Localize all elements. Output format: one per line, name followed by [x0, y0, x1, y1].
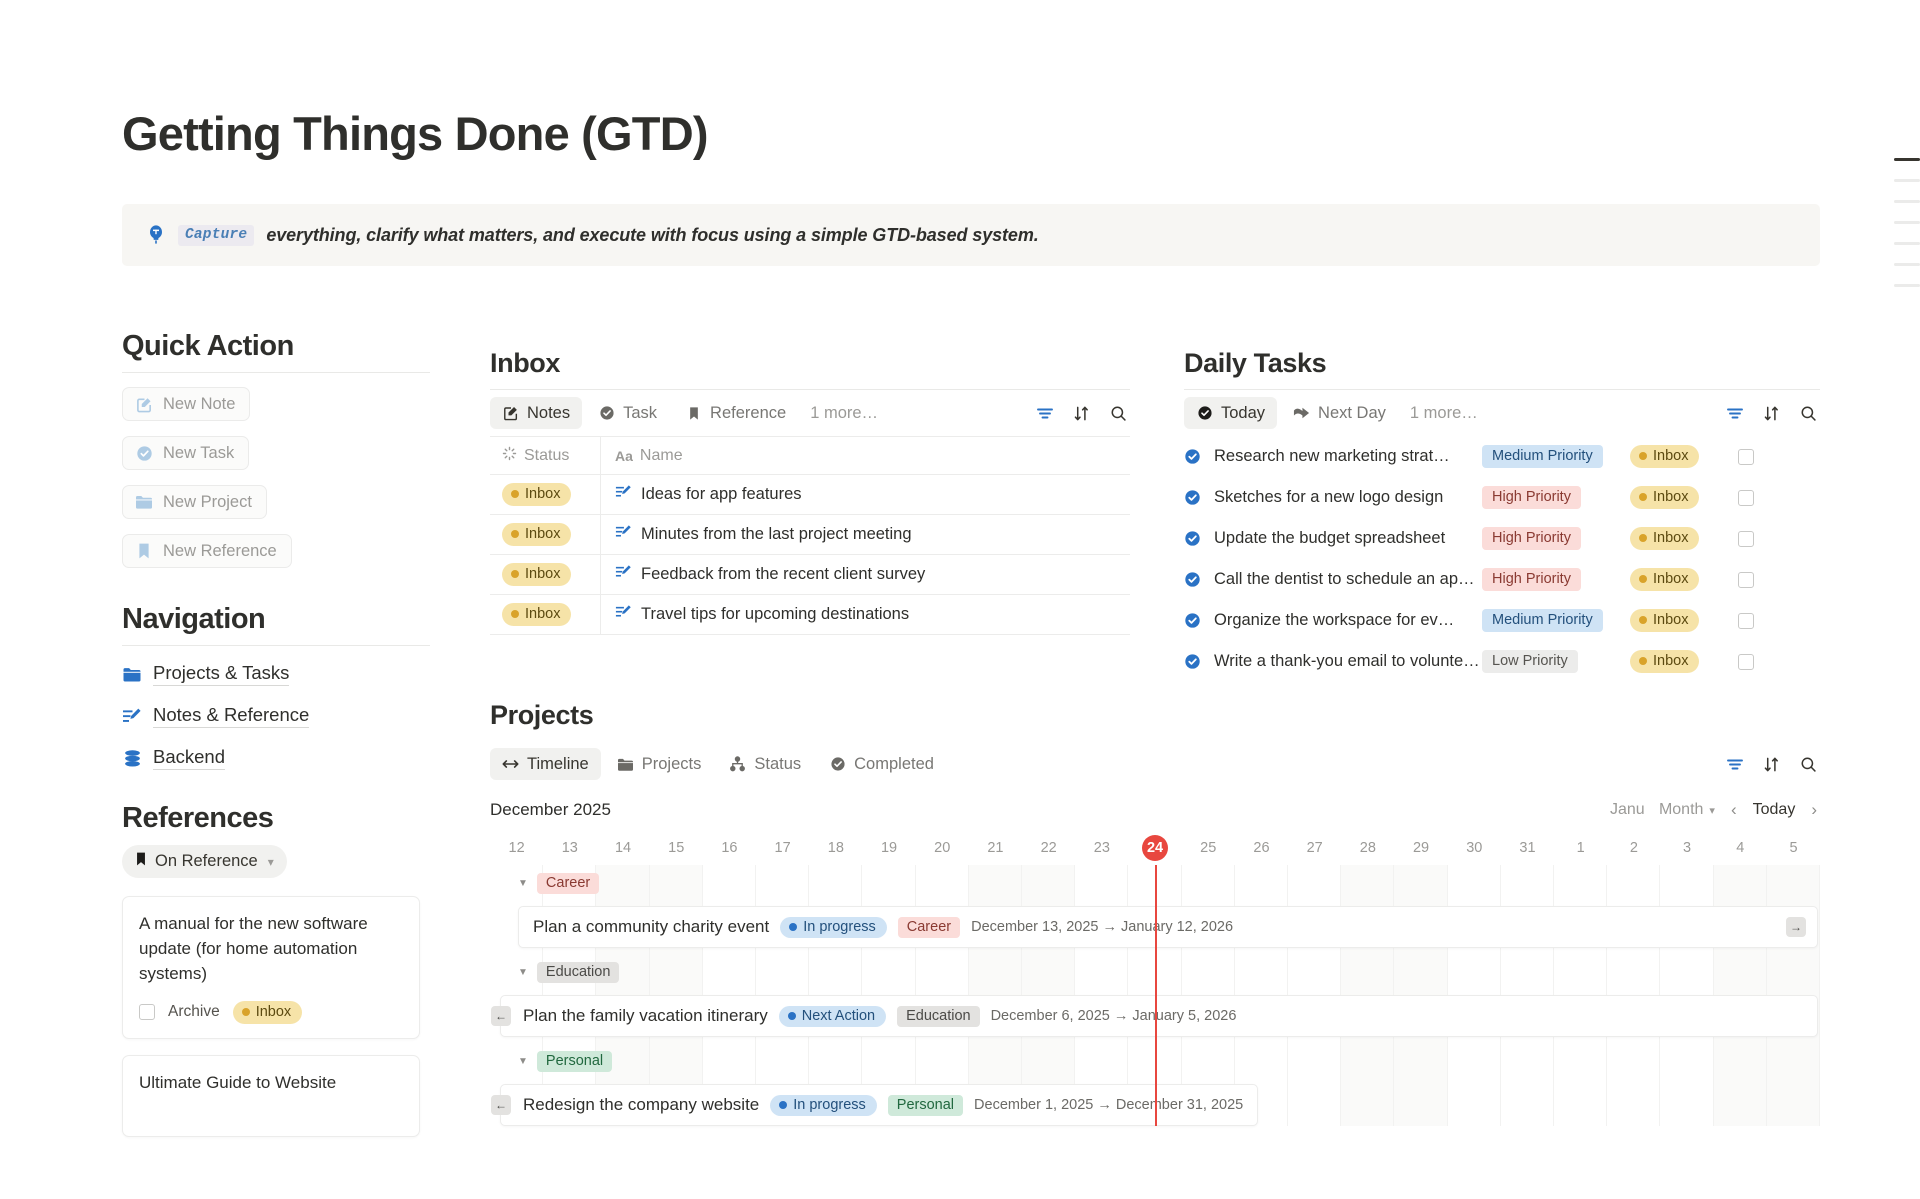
status-badge-label: Inbox [525, 565, 560, 583]
tab-label: Reference [710, 404, 786, 423]
tab-label: 1 more… [1410, 404, 1478, 423]
bookmark-icon [685, 405, 702, 422]
status-badge-label: Inbox [1653, 570, 1688, 588]
note-edit-icon [135, 395, 153, 413]
filter-icon[interactable] [1725, 404, 1744, 423]
task-checkbox[interactable] [1738, 490, 1754, 506]
tab-label: Timeline [527, 755, 589, 774]
status-badge-label: Inbox [525, 605, 560, 623]
status-dot-icon [1639, 534, 1647, 542]
task-done-icon[interactable] [1184, 571, 1214, 588]
status-dot-icon [1639, 452, 1647, 460]
task-name: Sketches for a new logo design [1214, 488, 1482, 507]
timeline-item-status: In progress [770, 1095, 877, 1116]
timeline-date-tick[interactable]: 19 [862, 840, 915, 856]
left-sidebar: Quick Action New Note New Task [122, 330, 430, 1137]
timeline-date-tick[interactable]: 22 [1022, 840, 1075, 856]
overflow-left-icon[interactable]: ← [491, 1095, 511, 1115]
task-done-icon[interactable] [1184, 448, 1214, 465]
timeline-item-status: Next Action [779, 1006, 886, 1027]
task-name: Organize the workspace for ev… [1214, 611, 1482, 630]
lightbulb-icon [146, 224, 166, 246]
task-priority: High Priority [1482, 527, 1630, 550]
overflow-left-icon[interactable]: ← [491, 1006, 511, 1026]
tab-reference[interactable]: Reference [673, 397, 798, 429]
status-dot-icon [779, 1101, 787, 1109]
tab-label: Next Day [1318, 404, 1386, 423]
status-dot-icon [242, 1008, 250, 1016]
task-row[interactable]: Sketches for a new logo design High Prio… [1184, 477, 1820, 518]
quick-action-list: New Note New Task New Project New Refere… [122, 387, 430, 583]
chevron-right-icon[interactable]: › [1808, 800, 1820, 820]
timeline-item-tag: Personal [888, 1095, 963, 1116]
filter-icon[interactable] [1035, 404, 1054, 423]
arrows-horizontal-icon [502, 756, 519, 773]
task-row[interactable]: Call the dentist to schedule an ap… High… [1184, 559, 1820, 600]
tab-today[interactable]: Today [1184, 397, 1277, 429]
task-checkbox[interactable] [1738, 572, 1754, 588]
timeline-date-tick[interactable]: 18 [809, 840, 862, 856]
column-header-status[interactable]: Status [490, 446, 600, 466]
tab-task[interactable]: Task [586, 397, 669, 429]
chevron-down-icon[interactable]: ▼ [518, 1056, 528, 1067]
task-priority: High Priority [1482, 486, 1630, 509]
task-row[interactable]: Organize the workspace for ev… Medium Pr… [1184, 600, 1820, 641]
daily-tasks-section: Daily Tasks Today Next Day 1 more… [1184, 348, 1820, 682]
task-name: Call the dentist to schedule an ap… [1214, 570, 1482, 589]
task-checkbox-cell [1738, 490, 1754, 506]
timeline-date-tick[interactable]: 1 [1554, 840, 1607, 856]
row-name-cell: Feedback from the recent client survey [600, 555, 1130, 595]
sort-icon[interactable] [1762, 404, 1781, 423]
status-dot-icon [1639, 575, 1647, 583]
inbox-table: Status Aa Name Inbox [490, 436, 1130, 635]
reference-filter-label: On Reference [155, 852, 258, 871]
status-badge: Inbox [1630, 445, 1699, 468]
folder-icon [135, 493, 153, 511]
reference-card-title: Ultimate Guide to Website [139, 1071, 403, 1096]
search-icon[interactable] [1799, 755, 1818, 774]
timeline-unit-dropdown[interactable]: Month ▾ [1659, 801, 1715, 819]
row-name-label: Feedback from the recent client survey [641, 565, 925, 584]
status-dot-icon [789, 923, 797, 931]
reference-card-title: A manual for the new software update (fo… [139, 912, 403, 987]
column-header-name[interactable]: Aa Name [600, 437, 1130, 475]
task-name: Write a thank-you email to volunte… [1214, 652, 1482, 671]
timeline-date-tick[interactable]: 23 [1075, 840, 1128, 856]
tab-label: Status [754, 755, 801, 774]
status-dot-icon [511, 530, 519, 538]
sidebar-item-backend[interactable]: Backend [122, 746, 430, 770]
timeline-item-tag: Career [898, 917, 960, 938]
timeline-date-tick[interactable]: 12 [490, 840, 543, 856]
task-priority: Medium Priority [1482, 609, 1630, 632]
timeline-today-button[interactable]: Today [1753, 801, 1796, 819]
timeline-date-tick[interactable]: 26 [1235, 840, 1288, 856]
priority-badge: High Priority [1482, 486, 1581, 509]
outline-mark[interactable] [1894, 221, 1920, 224]
daily-tasks-tabbar: Today Next Day 1 more… [1184, 390, 1820, 436]
status-dot-icon [511, 570, 519, 578]
tab-label: Task [623, 404, 657, 423]
timeline-date-tick[interactable]: 28 [1341, 840, 1394, 856]
bookmark-icon [135, 542, 153, 560]
folder-icon [617, 756, 634, 773]
timeline-item-title: Redesign the company website [523, 1095, 759, 1115]
group-tag: Education [537, 962, 620, 983]
timeline-item-bar[interactable]: ← Redesign the company website In progre… [500, 1084, 1258, 1126]
daily-tasks-list: Research new marketing strat… Medium Pri… [1184, 436, 1820, 682]
outline-mark[interactable] [1894, 200, 1920, 203]
status-dot-icon [511, 610, 519, 618]
timeline-item-dates: December 6, 2025 → January 5, 2026 [991, 1008, 1237, 1024]
row-name-label: Ideas for app features [641, 485, 802, 504]
status-dot-icon [788, 1012, 796, 1020]
status-dot-icon [511, 490, 519, 498]
quick-action-divider [122, 372, 430, 373]
task-done-icon[interactable] [1184, 489, 1214, 506]
row-name-label: Minutes from the last project meeting [641, 525, 912, 544]
row-name-cell: Minutes from the last project meeting [600, 515, 1130, 555]
row-status-cell: Inbox [490, 483, 600, 506]
row-name-cell: Travel tips for upcoming destinations [600, 595, 1130, 635]
priority-badge: High Priority [1482, 568, 1581, 591]
task-checkbox-cell [1738, 613, 1754, 629]
chevron-down-icon[interactable]: ▼ [518, 878, 528, 889]
capture-callout: Capture everything, clarify what matters… [122, 204, 1820, 266]
task-row[interactable]: Update the budget spreadsheet High Prior… [1184, 518, 1820, 559]
status-badge: Inbox [1630, 650, 1699, 673]
chevron-down-icon: ▾ [268, 855, 274, 869]
navigation-divider [122, 645, 430, 646]
table-row[interactable]: Inbox Minutes from the last project meet… [490, 515, 1130, 555]
inbox-toolbar [1035, 404, 1130, 423]
inbox-section: Inbox Notes Task [490, 348, 1130, 635]
status-badge-label: Inbox [1653, 447, 1688, 465]
check-circle-filled-icon [829, 756, 846, 773]
tab-label: Notes [527, 404, 570, 423]
timeline-date-tick[interactable]: 30 [1448, 840, 1501, 856]
timeline-bar-wrap: ← Redesign the company website In progre… [490, 1084, 1260, 1126]
new-task-button[interactable]: New Task [122, 436, 249, 470]
table-row[interactable]: Inbox Feedback from the recent client su… [490, 555, 1130, 595]
sort-icon[interactable] [1762, 755, 1781, 774]
task-name: Research new marketing strat… [1214, 447, 1482, 466]
status-badge-label: Inbox [525, 525, 560, 543]
note-edit-icon [615, 564, 632, 585]
check-circle-filled-icon [1196, 405, 1213, 422]
task-priority: High Priority [1482, 568, 1630, 591]
outline-mark[interactable] [1894, 263, 1920, 266]
database-icon [122, 748, 142, 768]
task-checkbox-cell [1738, 449, 1754, 465]
overflow-right-icon[interactable]: → [1786, 917, 1806, 937]
status-badge: Inbox [502, 523, 571, 546]
callout-code-label: Capture [178, 225, 254, 246]
timeline-date-tick[interactable]: 21 [969, 840, 1022, 856]
sidebar-item-label: Notes & Reference [153, 704, 309, 728]
status-badge: Inbox [502, 483, 571, 506]
timeline-today-marker [1155, 865, 1157, 1126]
timeline-item-bar[interactable]: Plan a community charity event In progre… [518, 906, 1818, 948]
status-badge-label: Inbox [1653, 529, 1688, 547]
task-tag: Inbox [1630, 650, 1738, 673]
task-row[interactable]: Research new marketing strat… Medium Pri… [1184, 436, 1820, 477]
task-priority: Medium Priority [1482, 445, 1630, 468]
tab-label: Projects [642, 755, 702, 774]
timeline-date-tick[interactable]: 3 [1660, 840, 1713, 856]
folder-icon [122, 664, 142, 684]
timeline-item-title: Plan a community charity event [533, 917, 769, 937]
new-note-button[interactable]: New Note [122, 387, 250, 421]
task-checkbox[interactable] [1738, 654, 1754, 670]
timeline-date-tick-today[interactable]: 24 [1128, 840, 1181, 856]
text-aa-icon: Aa [615, 448, 633, 464]
filter-icon[interactable] [1725, 755, 1744, 774]
chevron-down-icon: ▾ [1709, 804, 1715, 817]
sidebar-item-notes-reference[interactable]: Notes & Reference [122, 704, 430, 728]
timeline-header: December 2025 Janu Month ▾ ‹ Today › [490, 793, 1820, 827]
page-outline-indicator[interactable] [1860, 158, 1920, 305]
timeline-date-tick[interactable]: 27 [1288, 840, 1341, 856]
task-done-icon[interactable] [1184, 530, 1214, 547]
task-priority: Low Priority [1482, 650, 1630, 673]
check-circle-icon [135, 444, 153, 462]
timeline-month-label: December 2025 [490, 800, 611, 820]
status-badge-label: Inbox [1653, 652, 1688, 670]
tab-label: Today [1221, 404, 1265, 423]
arrow-forward-icon [1293, 405, 1310, 422]
row-name-label: Travel tips for upcoming destinations [641, 605, 909, 624]
group-tag: Personal [537, 1051, 612, 1072]
row-name-cell: Ideas for app features [600, 475, 1130, 515]
new-reference-label: New Reference [163, 542, 277, 561]
row-status-cell: Inbox [490, 603, 600, 626]
tab-projects[interactable]: Projects [605, 748, 714, 780]
reference-card-meta: Archive Inbox [139, 1001, 403, 1024]
status-badge-label: Inbox [525, 485, 560, 503]
tab-label: Completed [854, 755, 934, 774]
task-tag: Inbox [1630, 609, 1738, 632]
timeline-item-status-label: In progress [803, 919, 876, 935]
task-done-icon[interactable] [1184, 653, 1214, 670]
quick-action-heading: Quick Action [122, 330, 430, 372]
tab-label: 1 more… [810, 404, 878, 423]
status-badge-label: Inbox [1653, 488, 1688, 506]
task-tag: Inbox [1630, 486, 1738, 509]
status-badge-label: Inbox [1653, 611, 1688, 629]
task-checkbox[interactable] [1738, 613, 1754, 629]
sidebar-item-label: Projects & Tasks [153, 662, 289, 686]
note-edit-icon [615, 604, 632, 625]
projects-tabbar: Timeline Projects Status [490, 741, 1820, 787]
sort-icon[interactable] [1072, 404, 1091, 423]
reference-card[interactable]: Ultimate Guide to Website [122, 1055, 420, 1137]
priority-badge: Medium Priority [1482, 445, 1603, 468]
archive-label: Archive [168, 1003, 220, 1021]
archive-checkbox[interactable] [139, 1004, 155, 1020]
timeline-item-bar[interactable]: ← Plan the family vacation itinerary Nex… [500, 995, 1818, 1037]
task-checkbox-cell [1738, 531, 1754, 547]
timeline-item-dates: December 1, 2025 → December 31, 2025 [974, 1097, 1243, 1113]
timeline-date-tick[interactable]: 31 [1501, 840, 1554, 856]
timeline-date-tick[interactable]: 29 [1394, 840, 1447, 856]
priority-badge: Low Priority [1482, 650, 1578, 673]
column-header-label: Status [524, 447, 569, 465]
timeline-date-ruler: 12 13 14 15 16 17 18 19 20 21 22 23 24 2… [490, 831, 1820, 865]
table-row[interactable]: Inbox Travel tips for upcoming destinati… [490, 595, 1130, 635]
task-tag: Inbox [1630, 568, 1738, 591]
priority-badge: High Priority [1482, 527, 1581, 550]
status-badge: Inbox [1630, 486, 1699, 509]
inbox-tabbar: Notes Task Reference 1 more… [490, 390, 1130, 436]
timeline-item-tag: Education [897, 1006, 980, 1027]
references-heading: References [122, 802, 430, 845]
status-badge: Inbox [1630, 609, 1699, 632]
timeline-date-tick[interactable]: 15 [650, 840, 703, 856]
new-project-label: New Project [163, 493, 252, 512]
row-status-cell: Inbox [490, 563, 600, 586]
outline-mark[interactable] [1894, 179, 1920, 182]
projects-toolbar [1725, 755, 1820, 774]
new-project-button[interactable]: New Project [122, 485, 267, 519]
task-checkbox-cell [1738, 654, 1754, 670]
sidebar-item-label: Backend [153, 746, 225, 770]
timeline-date-tick[interactable]: 16 [703, 840, 756, 856]
timeline-date-tick[interactable]: 25 [1182, 840, 1235, 856]
timeline-date-tick[interactable]: 17 [756, 840, 809, 856]
task-checkbox[interactable] [1738, 531, 1754, 547]
tab-timeline[interactable]: Timeline [490, 748, 601, 780]
status-badge: Inbox [502, 603, 571, 626]
tab-more[interactable]: 1 more… [802, 397, 890, 429]
task-name: Update the budget spreadsheet [1214, 529, 1482, 548]
note-edit-icon [615, 484, 632, 505]
check-circle-icon [598, 405, 615, 422]
task-checkbox[interactable] [1738, 449, 1754, 465]
note-edit-icon [122, 706, 142, 726]
table-header-row: Status Aa Name [490, 437, 1130, 475]
search-icon[interactable] [1799, 404, 1818, 423]
timeline-date-tick[interactable]: 2 [1607, 840, 1660, 856]
hierarchy-icon [729, 756, 746, 773]
status-dot-icon [1639, 657, 1647, 665]
new-note-label: New Note [163, 395, 235, 414]
task-tag: Inbox [1630, 445, 1738, 468]
group-tag: Career [537, 873, 599, 894]
priority-badge: Medium Priority [1482, 609, 1603, 632]
note-edit-icon [502, 405, 519, 422]
chevron-left-icon[interactable]: ‹ [1728, 800, 1740, 820]
outline-mark[interactable] [1894, 284, 1920, 287]
outline-mark[interactable] [1894, 242, 1920, 245]
reference-filter-dropdown[interactable]: On Reference ▾ [122, 845, 287, 878]
note-edit-icon [615, 524, 632, 545]
row-status-cell: Inbox [490, 523, 600, 546]
timeline-date-tick[interactable]: 5 [1767, 840, 1820, 856]
bookmark-icon [135, 851, 147, 872]
projects-section: Projects Timeline Projects [490, 700, 1820, 1132]
timeline-item-dates: December 13, 2025 → January 12, 2026 [971, 919, 1233, 935]
task-tag: Inbox [1630, 527, 1738, 550]
timeline-unit-label: Month [1659, 801, 1703, 819]
callout-text: everything, clarify what matters, and ex… [266, 225, 1038, 246]
outline-mark-active[interactable] [1894, 158, 1920, 161]
tab-completed[interactable]: Completed [817, 748, 946, 780]
navigation-heading: Navigation [122, 603, 430, 645]
reference-card[interactable]: A manual for the new software update (fo… [122, 896, 420, 1039]
timeline-controls: Janu Month ▾ ‹ Today › [1610, 800, 1820, 820]
new-task-label: New Task [163, 444, 234, 463]
sidebar-item-projects-tasks[interactable]: Projects & Tasks [122, 662, 430, 686]
status-badge-label: Inbox [256, 1003, 291, 1021]
tab-notes[interactable]: Notes [490, 397, 582, 429]
page-title: Getting Things Done (GTD) [122, 108, 708, 160]
status-dot-icon [1639, 616, 1647, 624]
chevron-down-icon[interactable]: ▼ [518, 967, 528, 978]
status-badge: Inbox [1630, 527, 1699, 550]
timeline-item-status-label: In progress [793, 1097, 866, 1113]
tab-status[interactable]: Status [717, 748, 813, 780]
timeline-date-tick[interactable]: 13 [543, 840, 596, 856]
daily-tasks-toolbar [1725, 404, 1820, 423]
timeline-next-month-label: Janu [1610, 801, 1646, 819]
task-checkbox-cell [1738, 572, 1754, 588]
task-row[interactable]: Write a thank-you email to volunte… Low … [1184, 641, 1820, 682]
task-done-icon[interactable] [1184, 612, 1214, 629]
status-badge: Inbox [1630, 568, 1699, 591]
search-icon[interactable] [1109, 404, 1128, 423]
timeline: December 2025 Janu Month ▾ ‹ Today › 12 … [490, 793, 1820, 1126]
status-spinner-icon [502, 446, 517, 466]
timeline-body: ▼ Career Plan a community charity event … [490, 865, 1820, 1126]
gtd-dashboard-page: Getting Things Done (GTD) Capture everyt… [0, 0, 1920, 1199]
table-row[interactable]: Inbox Ideas for app features [490, 475, 1130, 515]
inbox-heading: Inbox [490, 348, 1130, 389]
status-badge: Inbox [233, 1001, 302, 1024]
tab-next-day[interactable]: Next Day [1281, 397, 1398, 429]
new-reference-button[interactable]: New Reference [122, 534, 292, 568]
timeline-item-status: In progress [780, 917, 887, 938]
timeline-date-tick[interactable]: 4 [1714, 840, 1767, 856]
tab-more[interactable]: 1 more… [1402, 397, 1490, 429]
daily-tasks-heading: Daily Tasks [1184, 348, 1820, 389]
timeline-item-title: Plan the family vacation itinerary [523, 1006, 768, 1026]
timeline-date-tick[interactable]: 14 [596, 840, 649, 856]
timeline-date-tick[interactable]: 20 [916, 840, 969, 856]
projects-heading: Projects [490, 700, 1820, 741]
status-dot-icon [1639, 493, 1647, 501]
status-badge: Inbox [502, 563, 571, 586]
column-header-label: Name [640, 447, 683, 465]
timeline-item-status-label: Next Action [802, 1008, 875, 1024]
